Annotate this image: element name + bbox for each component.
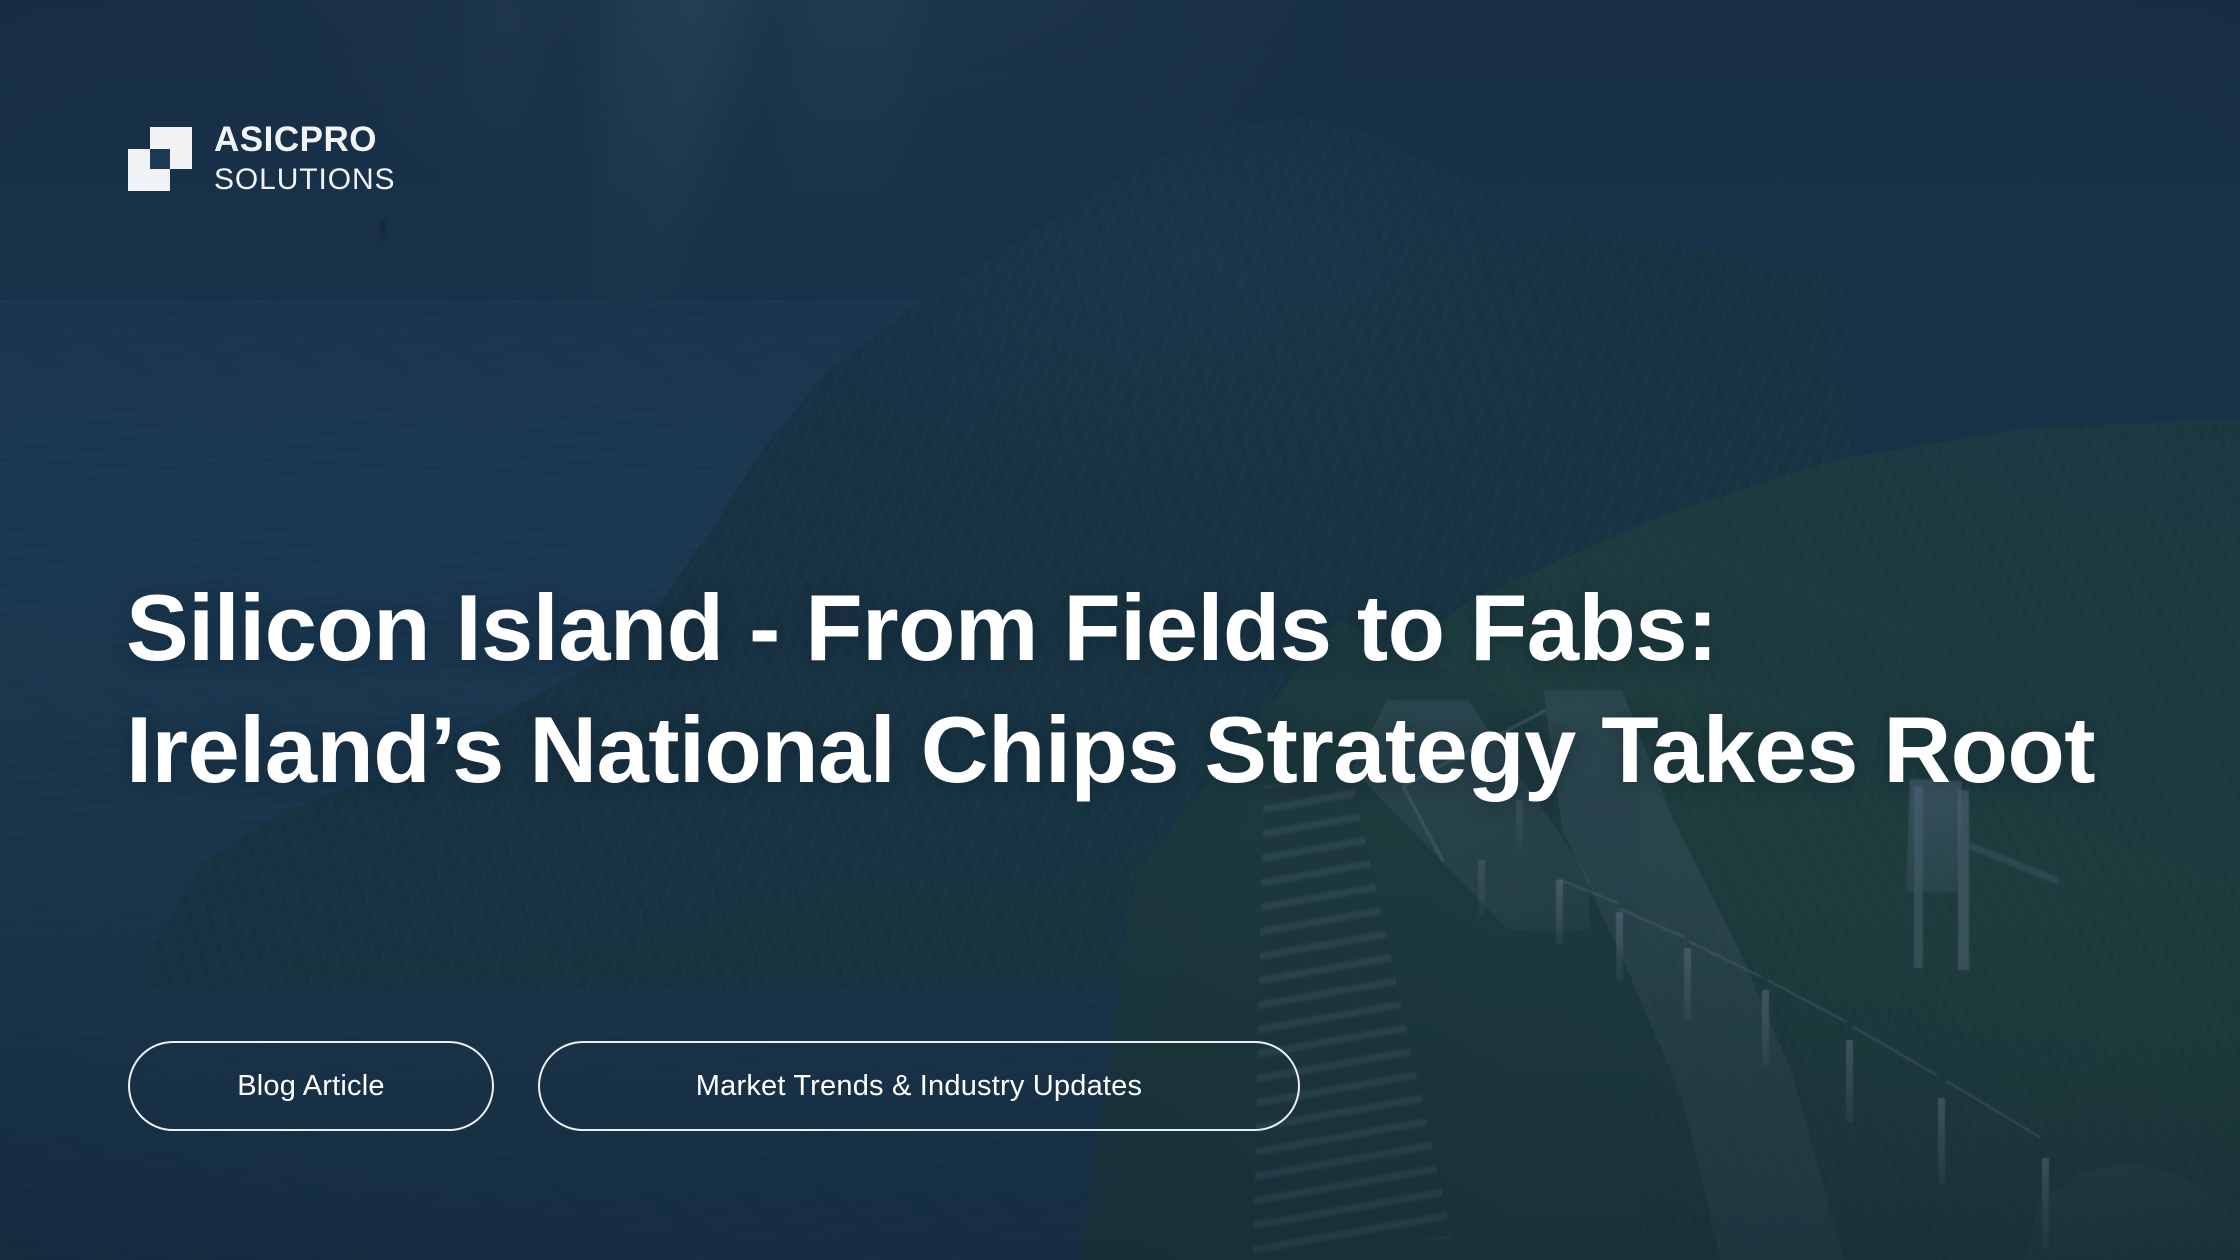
brand-name-secondary: SOLUTIONS — [214, 165, 395, 195]
tag-row: Blog Article Market Trends & Industry Up… — [128, 1041, 1300, 1131]
tag-blog-article[interactable]: Blog Article — [128, 1041, 494, 1131]
overlapping-squares-logo-icon — [128, 127, 192, 191]
page-title: Silicon Island - From Fields to Fabs: Ir… — [126, 567, 2156, 811]
tag-market-trends[interactable]: Market Trends & Industry Updates — [538, 1041, 1300, 1131]
hero-banner: ASICPRO SOLUTIONS Silicon Island - From … — [0, 0, 2240, 1260]
brand-wordmark: ASICPRO SOLUTIONS — [214, 122, 395, 195]
brand-name-primary: ASICPRO — [214, 122, 395, 157]
hero-content: ASICPRO SOLUTIONS Silicon Island - From … — [0, 0, 2240, 1260]
brand-logo[interactable]: ASICPRO SOLUTIONS — [128, 122, 395, 195]
page-title-line-1: Silicon Island - From Fields to Fabs: — [126, 567, 2156, 689]
page-title-line-2: Ireland’s National Chips Strategy Takes … — [126, 689, 2156, 811]
